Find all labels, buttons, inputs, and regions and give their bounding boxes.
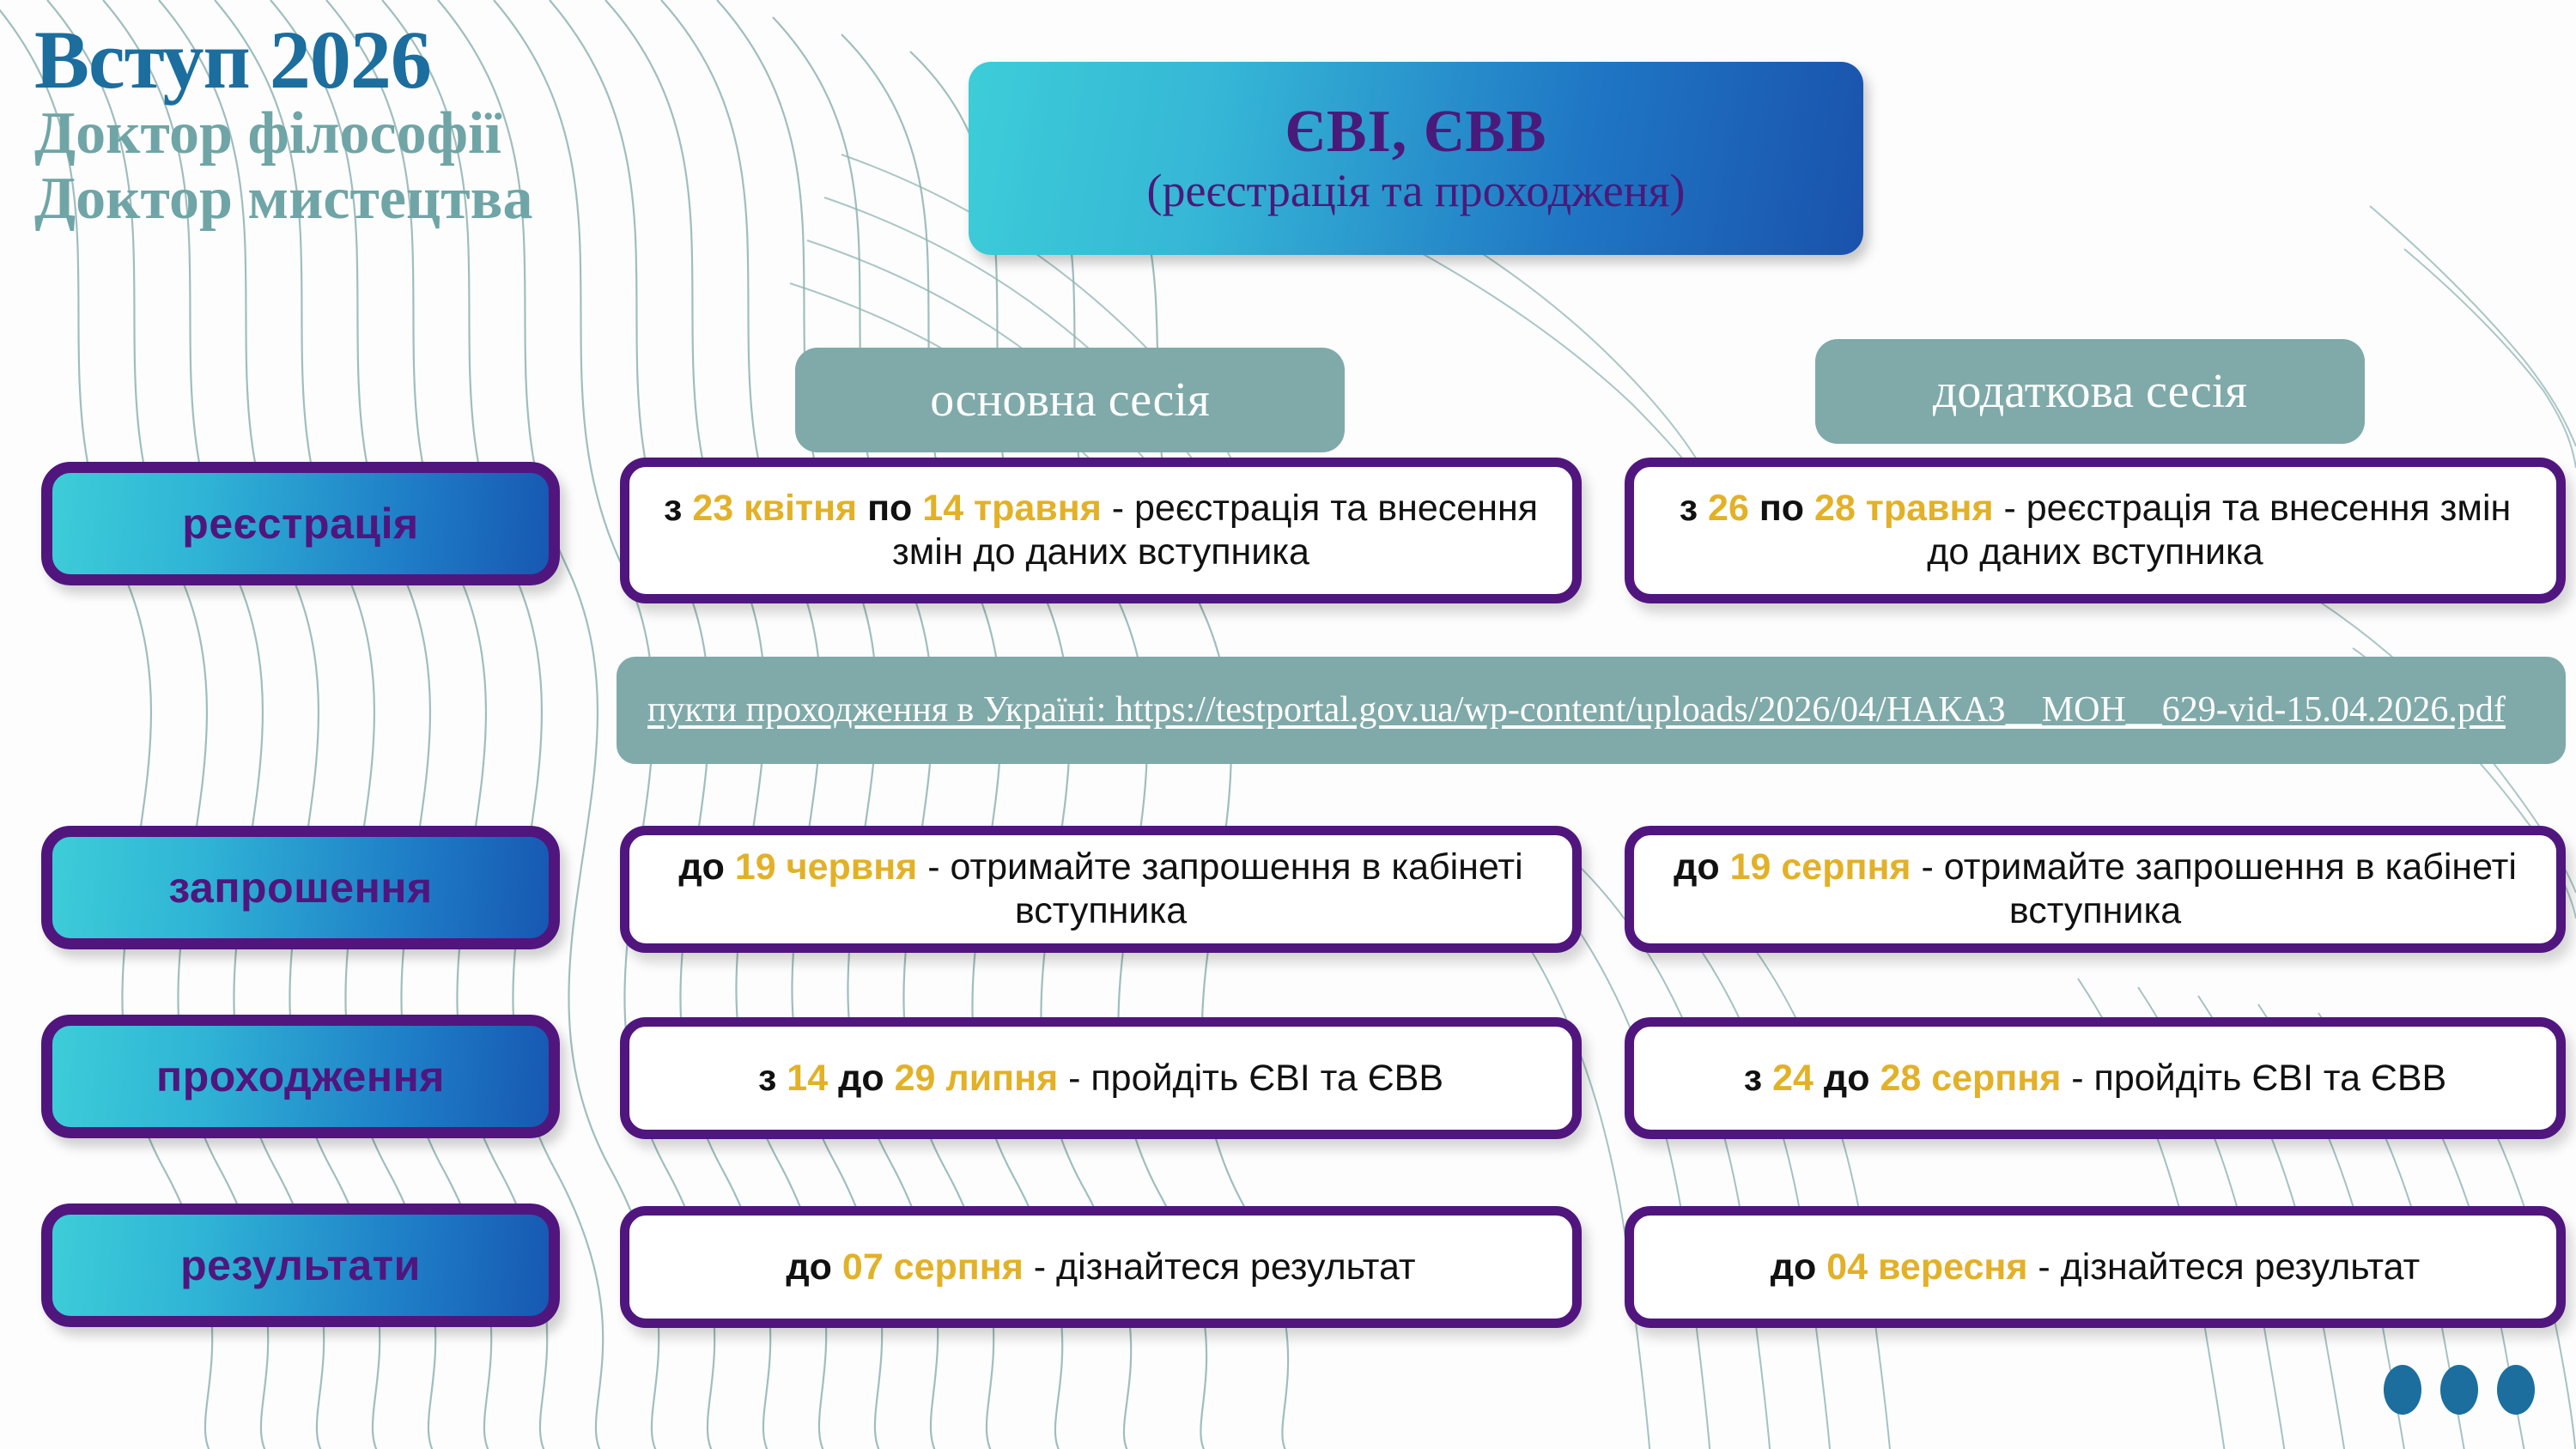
box-registration-additional-text: з 26 по 28 травня - реєстрація та внесен… xyxy=(1656,487,2534,573)
testing-points-link-band[interactable]: пукти проходження в Україні: https://tes… xyxy=(617,657,2566,764)
infographic-canvas: Вступ 2026 Доктор філософії Доктор мисте… xyxy=(0,0,2576,1449)
box-results-main: до 07 серпня - дізнайтеся результат xyxy=(620,1206,1582,1328)
text-prefix: до xyxy=(1674,846,1730,888)
date-end: 14 травня xyxy=(922,488,1102,529)
text-prefix: до xyxy=(678,846,735,888)
stage-pill-results[interactable]: результати xyxy=(41,1203,560,1327)
date-start: 24 xyxy=(1772,1058,1814,1099)
stage-pill-passing[interactable]: проходження xyxy=(41,1015,560,1138)
text-tail: - пройдіть ЄВІ та ЄВВ xyxy=(1058,1058,1443,1099)
date-start: 14 xyxy=(787,1058,828,1099)
text-prefix: до xyxy=(1771,1246,1827,1288)
date-start: 23 квітня xyxy=(692,488,857,529)
box-results-main-text: до 07 серпня - дізнайтеся результат xyxy=(786,1246,1415,1289)
decorative-dots xyxy=(2384,1365,2535,1415)
page-title: Вступ 2026 xyxy=(34,19,807,101)
stage-pill-registration[interactable]: реєстрація xyxy=(41,462,560,585)
box-registration-main-text: з 23 квітня по 14 травня - реєстрація та… xyxy=(652,487,1550,573)
stage-pill-passing-label: проходження xyxy=(156,1052,445,1101)
text-tail: - отримайте запрошення в кабінеті вступн… xyxy=(1911,846,2517,931)
exam-banner: ЄВІ, ЄВВ (реєстрація та проходженя) xyxy=(969,62,1863,255)
text-connector: по xyxy=(1749,488,1814,529)
session-header-main: основна сесія xyxy=(795,348,1345,452)
text-connector: по xyxy=(857,488,922,529)
title-block: Вступ 2026 Доктор філософії Доктор мисте… xyxy=(34,19,807,231)
date-start: 26 xyxy=(1708,488,1749,529)
stage-pill-invitation-label: запрошення xyxy=(168,863,432,912)
text-connector: до xyxy=(1814,1058,1880,1099)
box-invitation-additional-text: до 19 серпня - отримайте запрошення в ка… xyxy=(1656,846,2534,932)
text-tail: - пройдіть ЄВІ та ЄВВ xyxy=(2061,1058,2446,1099)
testing-points-link[interactable]: пукти проходження в Україні: https://tes… xyxy=(647,688,2506,732)
box-invitation-main-text: до 19 червня - отримайте запрошення в ка… xyxy=(652,846,1550,932)
text-connector: до xyxy=(828,1058,894,1099)
dot-icon xyxy=(2384,1365,2421,1415)
date-end: 28 серпня xyxy=(1880,1058,2061,1099)
text-tail: - реєстрація та внесення змін до даних в… xyxy=(1927,488,2511,573)
text-prefix: з xyxy=(1744,1058,1772,1099)
box-registration-main: з 23 квітня по 14 травня - реєстрація та… xyxy=(620,458,1582,603)
text-prefix: з xyxy=(664,488,692,529)
date-deadline: 19 червня xyxy=(735,846,917,888)
text-tail: - дізнайтеся результат xyxy=(2027,1246,2420,1288)
date-end: 28 травня xyxy=(1814,488,1994,529)
date-end: 29 липня xyxy=(895,1058,1059,1099)
text-tail: - отримайте запрошення в кабінеті вступн… xyxy=(917,846,1522,931)
stage-pill-results-label: результати xyxy=(180,1240,421,1290)
text-prefix: з xyxy=(758,1058,787,1099)
box-passing-main: з 14 до 29 липня - пройдіть ЄВІ та ЄВВ xyxy=(620,1017,1582,1139)
box-passing-additional-text: з 24 до 28 серпня - пройдіть ЄВІ та ЄВВ xyxy=(1744,1057,2446,1100)
box-passing-additional: з 24 до 28 серпня - пройдіть ЄВІ та ЄВВ xyxy=(1625,1017,2566,1139)
date-deadline: 07 серпня xyxy=(842,1246,1024,1288)
box-results-additional-text: до 04 вересня - дізнайтеся результат xyxy=(1771,1246,2420,1289)
subtitle-line-phd: Доктор філософії xyxy=(34,101,807,167)
box-invitation-main: до 19 червня - отримайте запрошення в ка… xyxy=(620,826,1582,953)
dot-icon xyxy=(2440,1365,2478,1415)
stage-pill-registration-label: реєстрація xyxy=(182,499,418,549)
box-registration-additional: з 26 по 28 травня - реєстрація та внесен… xyxy=(1625,458,2566,603)
text-tail: - дізнайтеся результат xyxy=(1024,1246,1416,1288)
banner-title: ЄВІ, ЄВВ xyxy=(1285,100,1546,164)
subtitle-line-arts: Доктор мистецтва xyxy=(34,167,807,232)
banner-subtitle: (реєстрація та проходженя) xyxy=(1147,166,1686,216)
session-header-additional: додаткова сесія xyxy=(1815,339,2365,444)
text-prefix: до xyxy=(786,1246,842,1288)
box-passing-main-text: з 14 до 29 липня - пройдіть ЄВІ та ЄВВ xyxy=(758,1057,1443,1100)
box-results-additional: до 04 вересня - дізнайтеся результат xyxy=(1625,1206,2566,1328)
text-prefix: з xyxy=(1680,488,1708,529)
dot-icon xyxy=(2497,1365,2535,1415)
date-deadline: 04 вересня xyxy=(1826,1246,2027,1288)
stage-pill-invitation[interactable]: запрошення xyxy=(41,826,560,949)
date-deadline: 19 серпня xyxy=(1730,846,1911,888)
box-invitation-additional: до 19 серпня - отримайте запрошення в ка… xyxy=(1625,826,2566,953)
